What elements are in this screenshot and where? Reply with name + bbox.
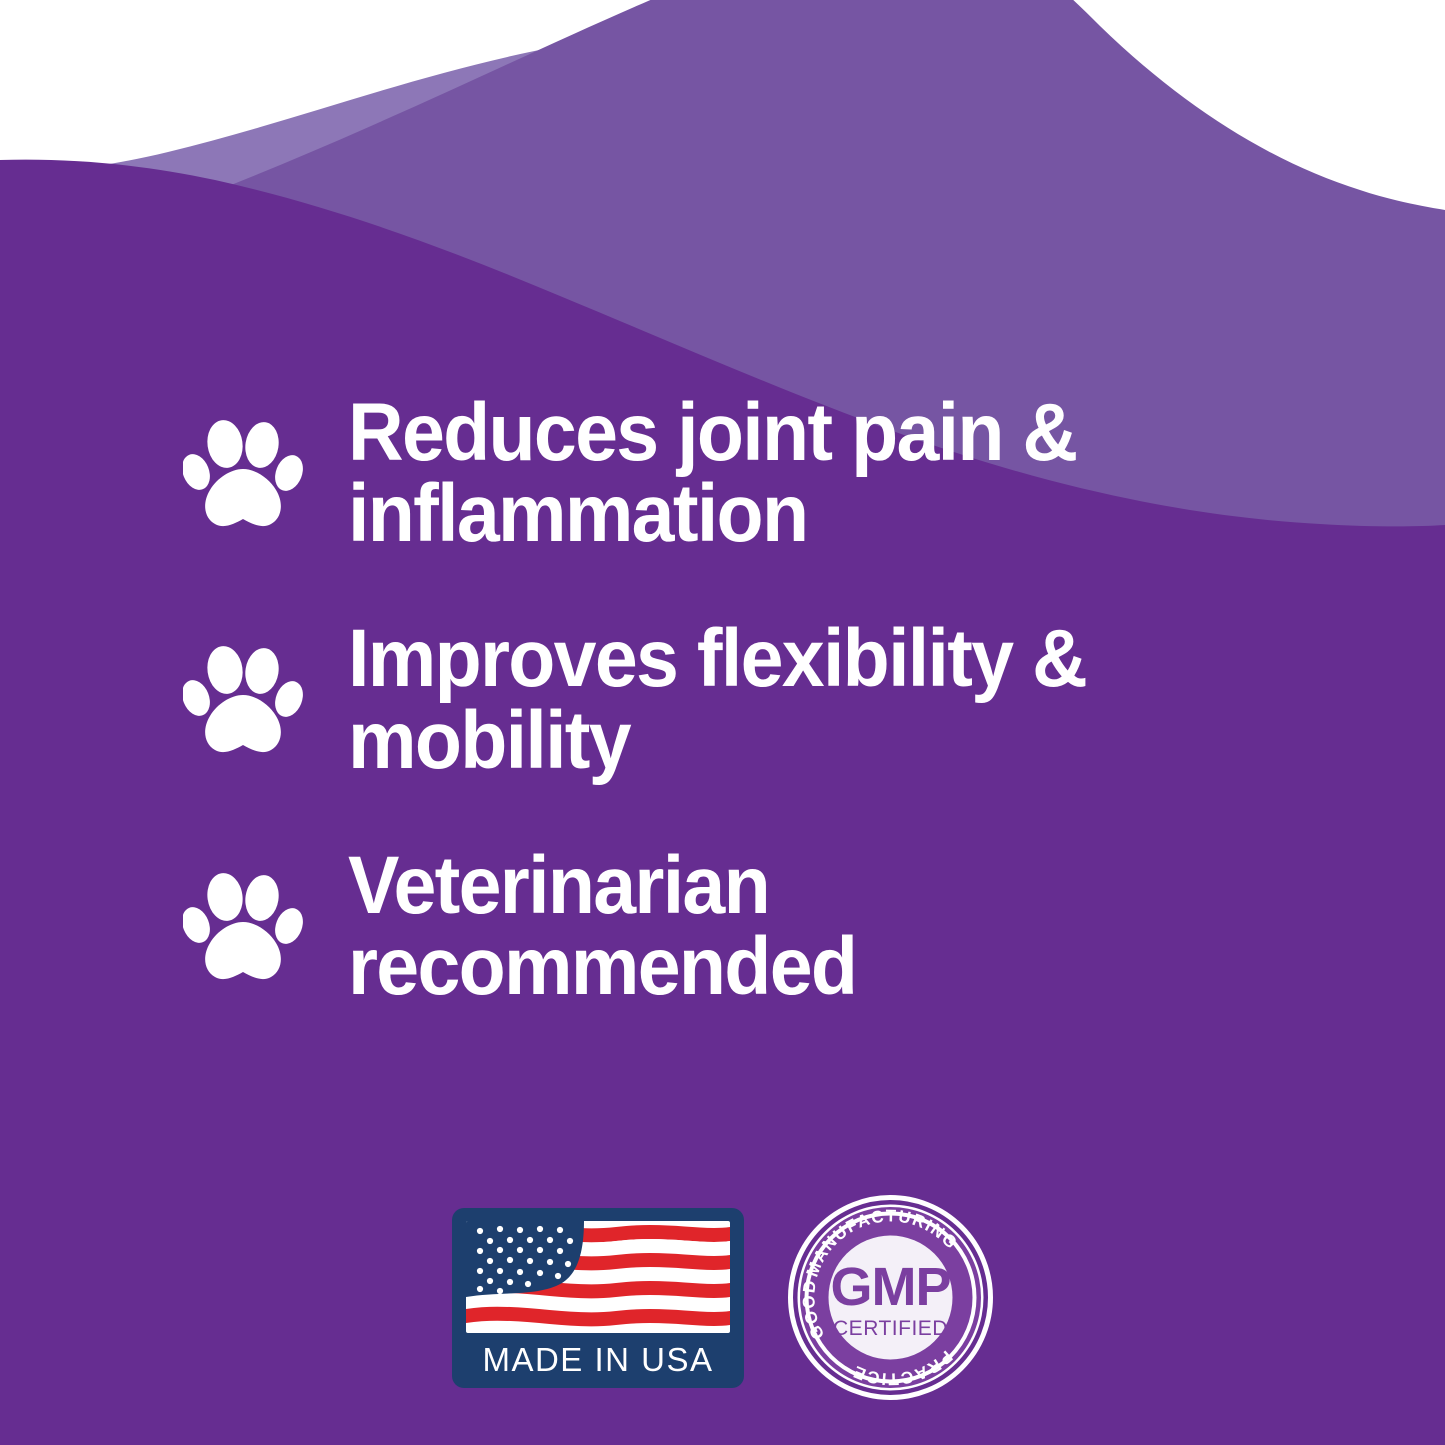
- paw-icon-wrapper-2: [183, 618, 313, 758]
- gmp-certified-badge: MANUFACTURING PRACTICE GOOD GMP CERTIFIE…: [788, 1195, 993, 1400]
- benefit-label-1: Reduces joint pain & inflammation: [348, 392, 1199, 554]
- paw-icon-wrapper-1: [183, 392, 313, 532]
- certification-badges: MADE IN USA MANUFACTURING: [0, 1190, 1445, 1405]
- benefit-item-3: Veterinarian recommended: [0, 845, 1445, 1007]
- paw-icon: [183, 414, 303, 532]
- benefit-item-1: Reduces joint pain & inflammation: [0, 392, 1445, 554]
- gmp-seal-icon: MANUFACTURING PRACTICE GOOD: [788, 1195, 993, 1400]
- made-in-usa-caption: MADE IN USA: [452, 1343, 744, 1376]
- made-in-usa-badge: MADE IN USA: [452, 1208, 744, 1388]
- benefits-list: Reduces joint pain & inflammation Improv…: [0, 392, 1445, 1071]
- paw-icon-wrapper-3: [183, 845, 313, 985]
- benefit-label-2: Improves flexibility & mobility: [348, 618, 1199, 780]
- marketing-graphic: Reduces joint pain & inflammation Improv…: [0, 0, 1445, 1445]
- benefit-item-2: Improves flexibility & mobility: [0, 618, 1445, 780]
- paw-icon: [183, 640, 303, 758]
- benefit-label-3: Veterinarian recommended: [348, 845, 1199, 1007]
- paw-icon: [183, 867, 303, 985]
- usa-flag-icon: [466, 1221, 730, 1333]
